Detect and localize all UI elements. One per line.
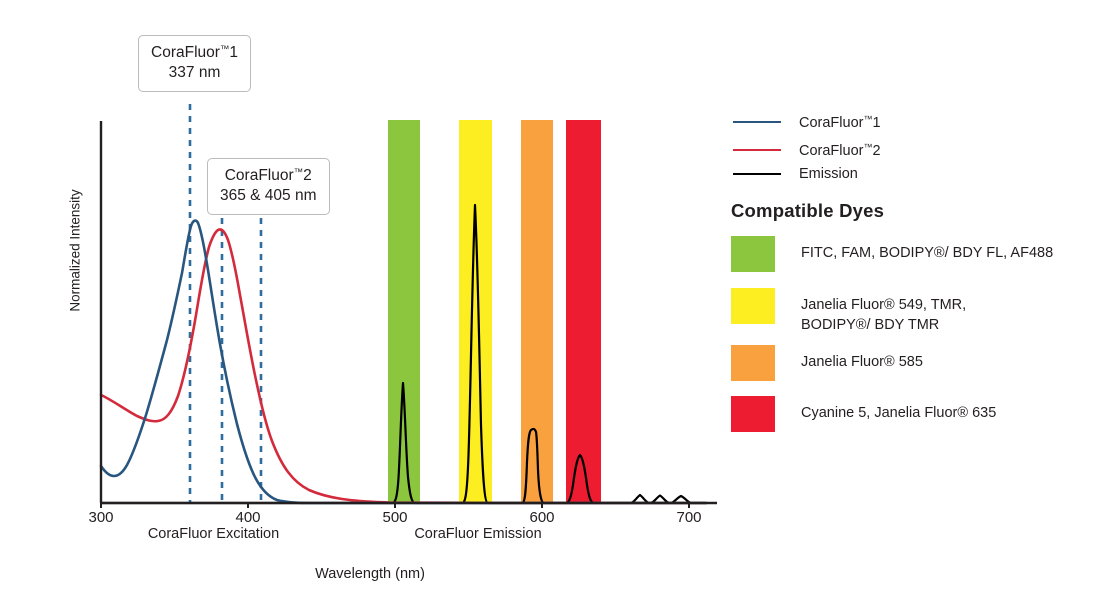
callout-corafluor1-value: 337 nm [151,63,238,83]
legend-label-corafluor1: CoraFluor™1 [799,114,881,131]
dye-item-yellow: Janelia Fluor® 549, TMR, BODIPY®/ BDY TM… [731,288,966,335]
x-tick-label-400: 400 [228,509,268,526]
callout-corafluor1-title: CoraFluor™1 [151,43,238,63]
dye-item-red: Cyanine 5, Janelia Fluor® 635 [731,396,996,432]
spectra-chart: 300 400 500 600 700 CoraFluor Excitation… [0,0,740,612]
dye-band-yellow [459,120,492,503]
dye-color-swatch-red [731,396,775,432]
compatible-dyes-heading: Compatible Dyes [731,200,884,222]
legend-item-emission: Emission [733,165,858,183]
x-tick-label-500: 500 [375,509,415,526]
y-axis-title: Normalized Intensity [68,171,83,331]
dye-color-swatch-green [731,236,775,272]
trademark-icon: ™ [294,167,304,178]
legend-label-emission: Emission [799,166,858,182]
dye-item-orange: Janelia Fluor® 585 [731,345,923,381]
dye-color-swatch-yellow [731,288,775,324]
legend-label-corafluor2: CoraFluor™2 [799,142,881,159]
excitation-range-label: CoraFluor Excitation [101,526,326,542]
legend-item-corafluor1: CoraFluor™1 [733,113,881,131]
dye-label-orange: Janelia Fluor® 585 [801,345,923,373]
x-tick-label-700: 700 [669,509,709,526]
callout-corafluor2-name: CoraFluor [225,167,294,184]
callout-corafluor2-title: CoraFluor™2 [220,166,317,186]
x-tick-label-300: 300 [81,509,121,526]
dye-band-red [566,120,601,503]
dye-label-yellow: Janelia Fluor® 549, TMR, BODIPY®/ BDY TM… [801,288,966,335]
dye-band-green [388,120,420,503]
legend-line-swatch-corafluor2 [733,149,781,151]
trademark-icon: ™ [220,44,230,55]
callout-corafluor2-value: 365 & 405 nm [220,186,317,206]
dye-item-green: FITC, FAM, BODIPY®/ BDY FL, AF488 [731,236,1053,272]
dye-label-green: FITC, FAM, BODIPY®/ BDY FL, AF488 [801,236,1053,264]
callout-corafluor2-index: 2 [303,167,312,184]
callout-corafluor1-index: 1 [229,44,238,61]
x-tick-label-600: 600 [522,509,562,526]
callout-corafluor1: CoraFluor™1 337 nm [138,35,251,92]
legend-label-text: CoraFluor [799,115,863,131]
legend-label-text: CoraFluor [799,143,863,159]
x-axis-title: Wavelength (nm) [0,566,740,582]
legend-label-index: 1 [872,115,880,131]
dye-label-red: Cyanine 5, Janelia Fluor® 635 [801,396,996,424]
emission-range-label: CoraFluor Emission [343,526,613,542]
dye-bands [388,120,601,503]
legend-label-index: 2 [872,143,880,159]
callout-corafluor2: CoraFluor™2 365 & 405 nm [207,158,330,215]
legend-panel: CoraFluor™1 CoraFluor™2 Emission Compati… [728,0,1110,612]
callout-corafluor1-name: CoraFluor [151,44,220,61]
legend-item-corafluor2: CoraFluor™2 [733,141,881,159]
legend-line-swatch-emission [733,173,781,175]
legend-line-swatch-corafluor1 [733,121,781,123]
dye-color-swatch-orange [731,345,775,381]
